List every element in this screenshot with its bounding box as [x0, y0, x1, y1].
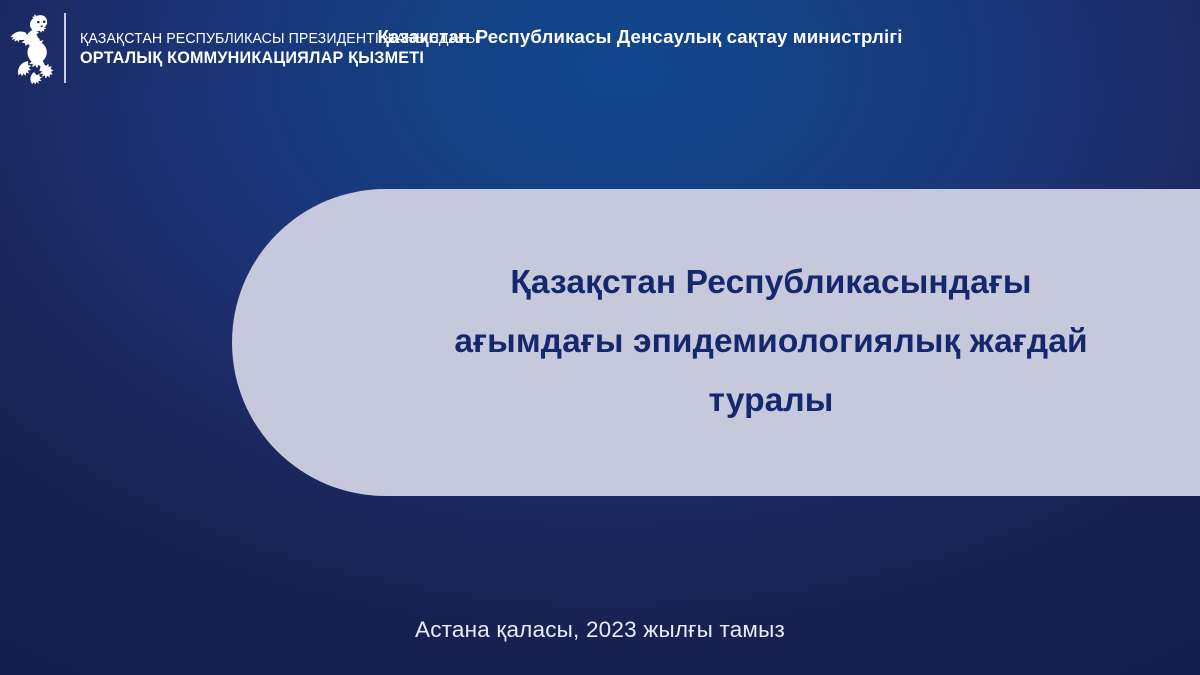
snow-leopard-emblem-icon: [6, 10, 58, 86]
presentation-slide: ҚАЗАҚСТАН РЕСПУБЛИКАСЫ ПРЕЗИДЕНТІ ЖАНЫНД…: [0, 0, 1200, 675]
slide-footer: Астана қаласы, 2023 жылғы тамыз: [0, 617, 1200, 643]
brand-line-ccs: ОРТАЛЫҚ КОММУНИКАЦИЯЛАР ҚЫЗМЕТІ: [80, 50, 483, 67]
title-line-3: туралы: [382, 372, 1160, 431]
brand-lockup: ҚАЗАҚСТАН РЕСПУБЛИКАСЫ ПРЕЗИДЕНТІ ЖАНЫНД…: [6, 8, 483, 88]
title-card: Қазақстан Республикасындағы ағымдағы эпи…: [232, 189, 1200, 496]
title-text-block: Қазақстан Республикасындағы ағымдағы эпи…: [232, 254, 1200, 431]
place-and-date: Астана қаласы, 2023 жылғы тамыз: [0, 617, 1200, 643]
title-line-1: Қазақстан Республикасындағы: [382, 254, 1160, 313]
brand-divider: [64, 13, 66, 83]
ministry-title: Қазақстан Республикасы Денсаулық сақтау …: [0, 26, 1200, 48]
title-line-2: ағымдағы эпидемиологиялық жағдай: [382, 313, 1160, 372]
slide-header: ҚАЗАҚСТАН РЕСПУБЛИКАСЫ ПРЕЗИДЕНТІ ЖАНЫНД…: [0, 0, 1200, 96]
